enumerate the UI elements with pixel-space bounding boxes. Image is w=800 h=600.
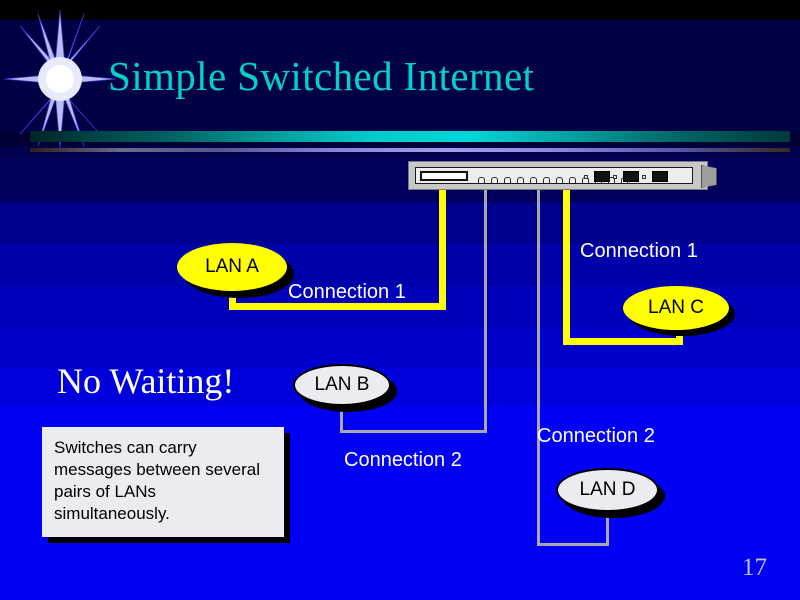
- switch-port-large: [652, 171, 668, 182]
- background-band-top: [0, 0, 800, 20]
- slide-canvas: Simple Switched Internet: [0, 0, 800, 600]
- switch-status-led: [613, 175, 617, 179]
- connection-label-conn-2-right: Connection 2: [537, 425, 655, 448]
- cable-conn-2-right-horizontal: [537, 543, 609, 546]
- cable-conn-1-right-vertical-switch: [563, 189, 570, 345]
- cable-conn-2-left-vertical-switch: [484, 190, 487, 433]
- title-divider-thin: [30, 148, 790, 152]
- switch-port-small: [530, 177, 537, 183]
- lan-c-label: LAN C: [648, 297, 704, 319]
- page-number: 17: [742, 554, 767, 582]
- connection-label-conn-1-right: Connection 1: [580, 240, 698, 263]
- switch-faceplate: [415, 167, 693, 184]
- switch-status-led: [642, 175, 646, 179]
- connection-label-conn-1-left: Connection 1: [288, 281, 406, 304]
- lan-a-label: LAN A: [205, 256, 259, 278]
- switch-port-large: [623, 171, 639, 182]
- cable-conn-1-right-horizontal: [563, 338, 683, 345]
- background-band: [0, 202, 800, 244]
- switch-side-bezel: [701, 165, 717, 188]
- cable-conn-2-right-vertical-switch: [537, 190, 540, 546]
- switch-display-panel: [420, 171, 468, 181]
- note-box: Switches can carry messages between seve…: [42, 427, 284, 537]
- cable-conn-1-left-vertical-switch: [439, 189, 446, 310]
- lan-node-lan-d[interactable]: LAN D: [556, 468, 659, 512]
- lan-node-lan-a[interactable]: LAN A: [177, 243, 287, 291]
- lan-node-lan-c[interactable]: LAN C: [623, 286, 729, 330]
- cable-conn-2-left-horizontal: [340, 430, 487, 433]
- lan-b-label: LAN B: [315, 374, 370, 396]
- cable-conn-1-left-horizontal: [229, 303, 446, 310]
- lan-node-lan-b[interactable]: LAN B: [293, 364, 391, 406]
- switch-port-small: [556, 177, 563, 183]
- switch-port-small: [491, 177, 498, 183]
- switch-port-small: [517, 177, 524, 183]
- starburst-icon: [2, 8, 118, 150]
- switch-port-small: [478, 177, 485, 183]
- headline-text: No Waiting!: [57, 360, 234, 402]
- switch-status-led: [584, 175, 588, 179]
- title-divider-bar: [30, 131, 790, 142]
- connection-label-conn-2-left: Connection 2: [344, 449, 462, 472]
- network-switch-device[interactable]: [408, 161, 708, 190]
- lan-d-label: LAN D: [580, 479, 636, 501]
- switch-port-small: [569, 177, 576, 183]
- page-title: Simple Switched Internet: [108, 52, 534, 100]
- switch-port-large: [594, 171, 610, 182]
- switch-port-small: [543, 177, 550, 183]
- switch-port-small: [504, 177, 511, 183]
